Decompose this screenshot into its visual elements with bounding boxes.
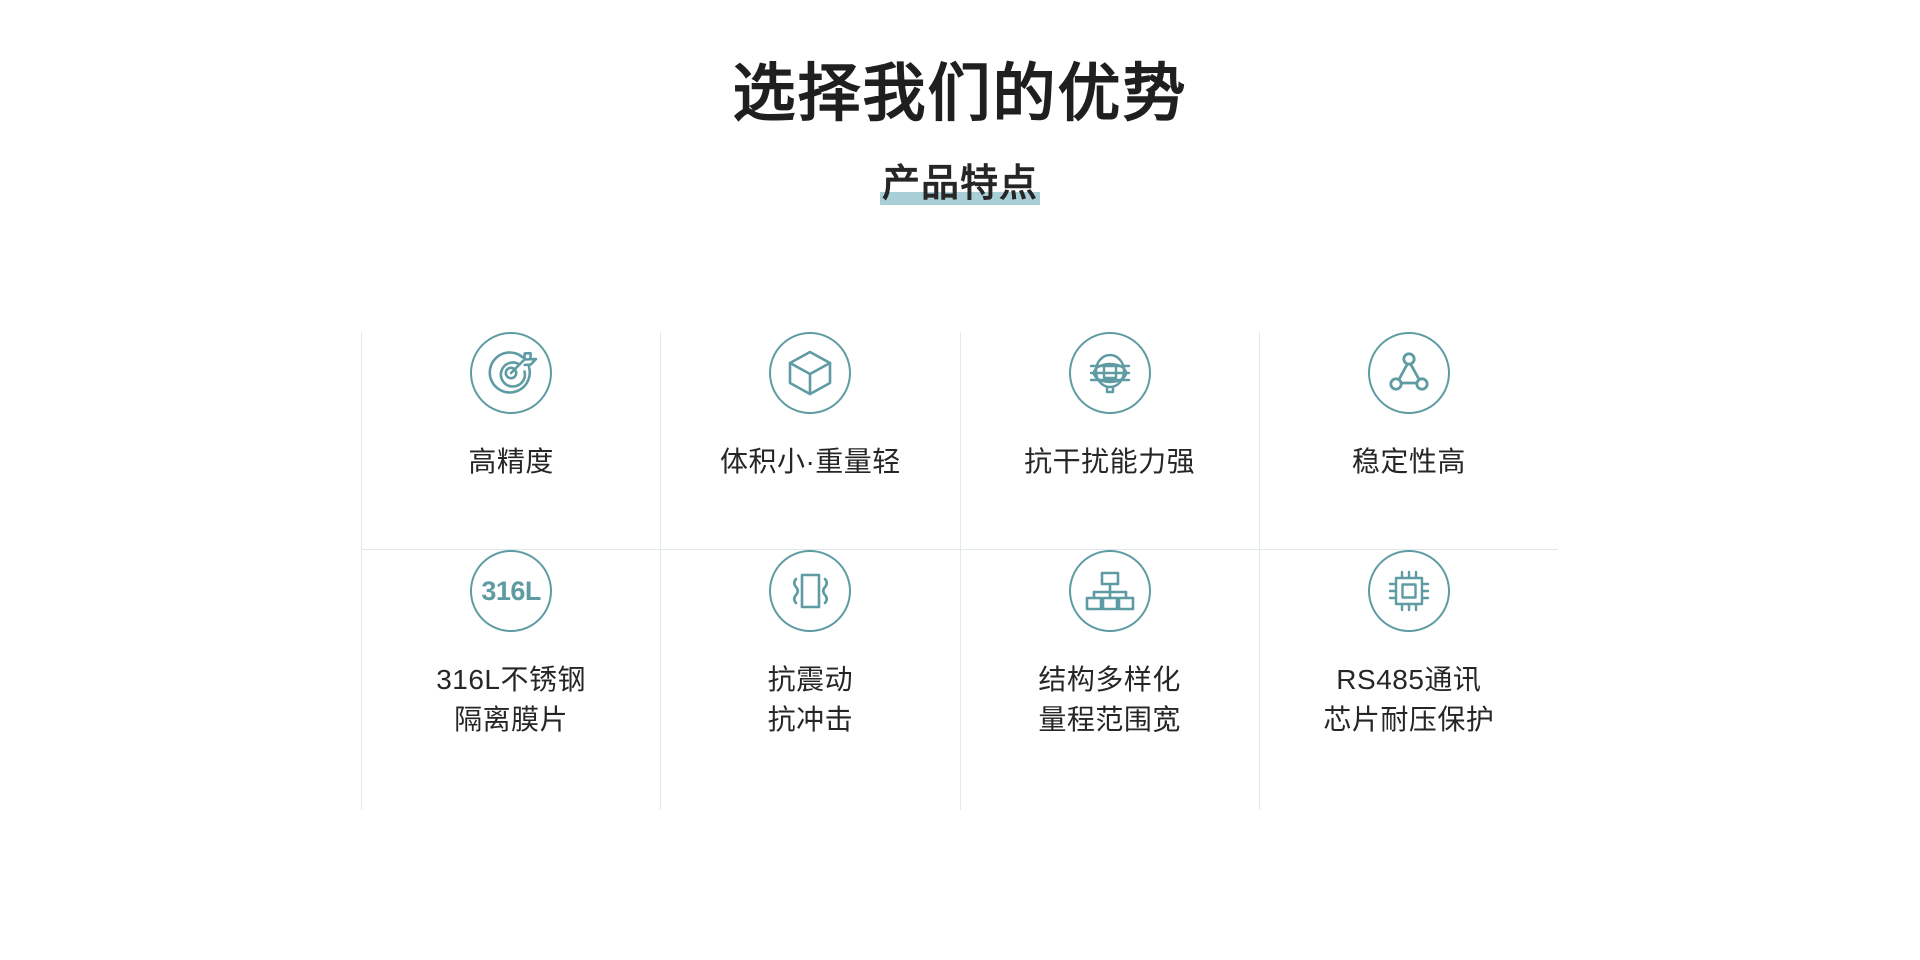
triangle-nodes-icon: [1368, 332, 1450, 414]
page-header: 选择我们的优势 产品特点: [0, 0, 1920, 207]
316l-badge-text: 316L: [481, 576, 541, 607]
feature-cell-high-stability[interactable]: 稳定性高: [1260, 332, 1558, 550]
anti-vibration-icon: [769, 550, 851, 632]
feature-label: 结构多样化 量程范围宽: [1038, 660, 1181, 740]
feature-cell-anti-interference[interactable]: 抗干扰能力强: [961, 332, 1260, 550]
subtitle-container: 产品特点: [878, 152, 1042, 207]
feature-cell-structure-diversity[interactable]: 结构多样化 量程范围宽: [961, 550, 1260, 810]
target-arrow-icon: [470, 332, 552, 414]
feature-cell-small-light[interactable]: 体积小·重量轻: [661, 332, 960, 550]
product-features-page: 选择我们的优势 产品特点 高精度: [0, 0, 1920, 960]
feature-label: 316L不锈钢 隔离膜片: [436, 660, 586, 740]
features-grid-container: 高精度 体积小·重量轻: [361, 332, 1558, 810]
features-grid: 高精度 体积小·重量轻: [361, 332, 1558, 810]
hierarchy-structure-icon: [1069, 550, 1151, 632]
316l-badge-icon: 316L: [470, 550, 552, 632]
feature-label: 抗震动 抗冲击: [768, 660, 854, 740]
feature-label: RS485通讯 芯片耐压保护: [1323, 660, 1494, 740]
cube-box-icon: [769, 332, 851, 414]
feature-cell-anti-vibration[interactable]: 抗震动 抗冲击: [661, 550, 960, 810]
feature-label: 稳定性高: [1352, 442, 1466, 482]
feature-cell-316l-steel[interactable]: 316L 316L不锈钢 隔离膜片: [362, 550, 661, 810]
feature-cell-rs485[interactable]: RS485通讯 芯片耐压保护: [1260, 550, 1558, 810]
page-title: 选择我们的优势: [0, 58, 1920, 130]
feature-cell-high-precision[interactable]: 高精度: [362, 332, 661, 550]
anti-interference-icon: [1069, 332, 1151, 414]
chip-cpu-icon: [1368, 550, 1450, 632]
feature-label: 抗干扰能力强: [1024, 442, 1195, 482]
page-subtitle: 产品特点: [878, 163, 1042, 205]
feature-label: 体积小·重量轻: [720, 442, 901, 482]
feature-label: 高精度: [468, 442, 554, 482]
